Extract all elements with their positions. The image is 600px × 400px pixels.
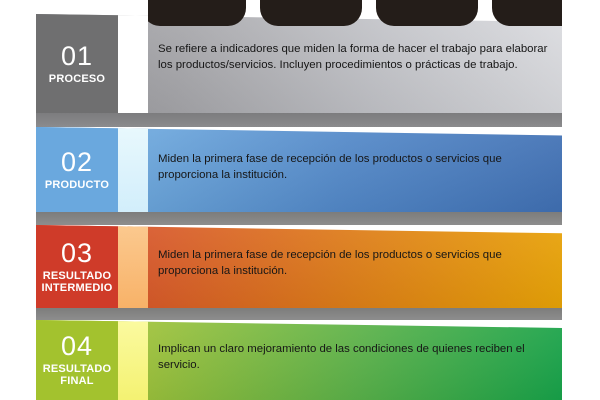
band-number-2: 02 [61,149,93,176]
band-number-3: 03 [61,240,93,267]
dark-shape-3 [376,0,478,26]
band-number-4: 04 [61,333,93,360]
dark-shape-1 [148,0,246,26]
dark-shape-4 [492,0,562,26]
band-text-1: Se refiere a indicadores que miden la fo… [158,42,552,73]
band-text-4: Implican un claro mejoramiento de las co… [158,342,552,373]
band-product[interactable]: 02 PRODUCTO Miden la primera fase de rec… [36,127,562,212]
band-highlight-3 [118,225,148,308]
band-highlight-2 [118,127,148,212]
band-cap-1: 01 PROCESO [36,14,118,113]
dark-shape-2 [260,0,362,26]
band-cap-3: 03 RESULTADO INTERMEDIO [36,225,118,308]
band-final-result[interactable]: 04 RESULTADO FINAL Implican un claro mej… [36,320,562,400]
band-label-4: RESULTADO [43,363,112,375]
band-text-2: Miden la primera fase de recepción de lo… [158,152,552,183]
band-label2-4: FINAL [60,375,93,387]
infographic-canvas: 01 PROCESO Se refiere a indicadores que … [0,0,600,400]
band-cap-4: 04 RESULTADO FINAL [36,320,118,400]
band-label2-3: INTERMEDIO [41,282,112,294]
band-label-1: PROCESO [49,73,105,85]
band-cap-2: 02 PRODUCTO [36,127,118,212]
band-highlight-1 [118,14,148,113]
band-highlight-4 [118,320,148,400]
band-label-3: RESULTADO [43,270,112,282]
cropped-dark-shapes-row [148,0,562,30]
band-label-2: PRODUCTO [45,179,109,191]
band-intermediate-result[interactable]: 03 RESULTADO INTERMEDIO Miden la primera… [36,225,562,308]
band-number-1: 01 [61,43,93,70]
band-text-3: Miden la primera fase de recepción de lo… [158,248,552,279]
